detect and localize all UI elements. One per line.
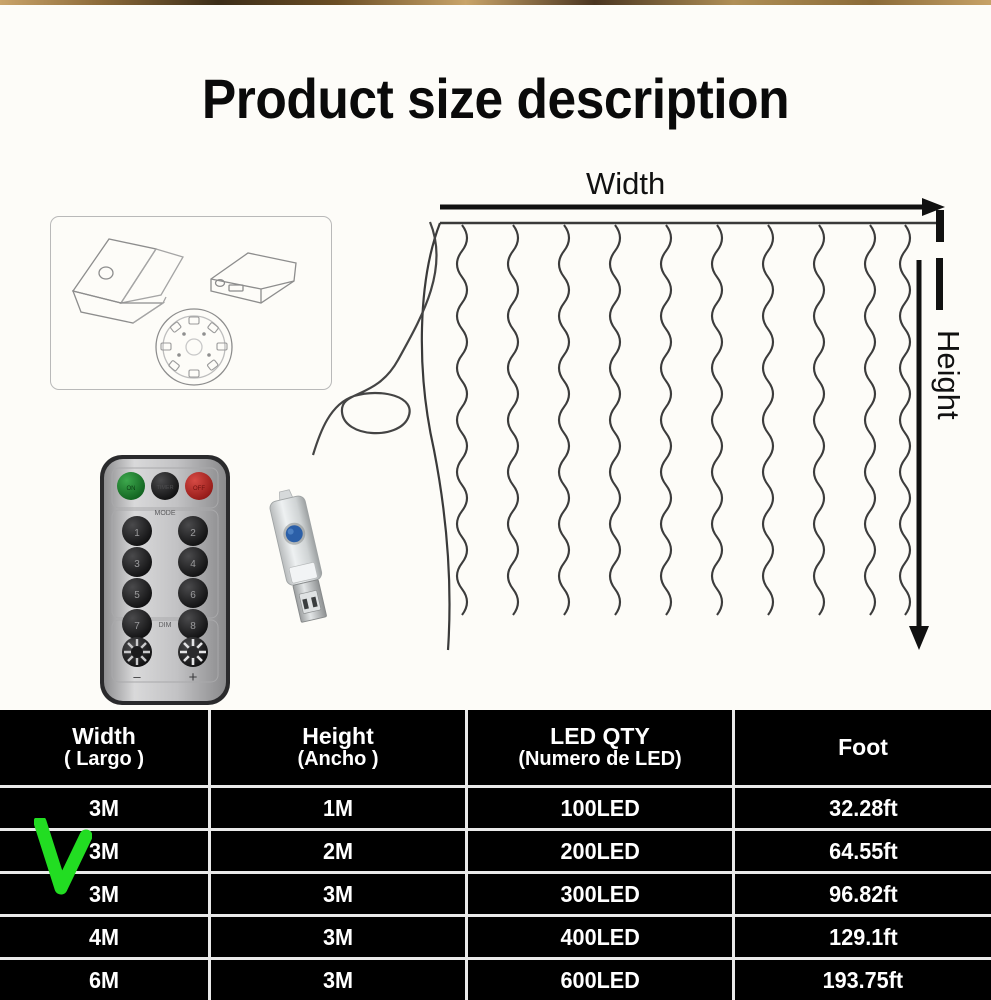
cell-foot: 64.55ft <box>735 831 991 874</box>
cell-value: 3M <box>323 881 353 908</box>
led-strands <box>457 225 910 615</box>
cell-led-qty: 400LED <box>468 917 735 960</box>
power-strip-icon <box>156 309 232 385</box>
header-main: LED QTY <box>550 724 650 748</box>
cell-height: 3M <box>211 874 468 917</box>
cell-value: 100LED <box>560 795 639 822</box>
svg-text:5: 5 <box>134 590 140 601</box>
cell-foot: 96.82ft <box>735 874 991 917</box>
led-strand <box>763 225 773 615</box>
cell-value: 6M <box>89 967 119 994</box>
cell-value: 1M <box>323 795 353 822</box>
cell-led-qty: 100LED <box>468 788 735 831</box>
cell-value: 4M <box>89 924 119 951</box>
cell-value: 129.1ft <box>829 924 898 951</box>
cell-foot: 193.75ft <box>735 960 991 1000</box>
width-label: Width <box>586 166 665 202</box>
cell-value: 400LED <box>560 924 639 951</box>
svg-text:4: 4 <box>190 559 196 570</box>
cell-led-qty: 200LED <box>468 831 735 874</box>
table-row: 6M 3M 600LED 193.75ft <box>0 960 991 1000</box>
cell-width: 6M <box>0 960 211 1000</box>
header-sub: (Ancho ) <box>297 748 378 771</box>
table-row: 3M 1M 100LED 32.28ft <box>0 788 991 831</box>
right-top-cap <box>936 210 944 242</box>
svg-text:TIMER: TIMER <box>156 485 173 491</box>
cell-value: 300LED <box>560 881 639 908</box>
header-cell-width: Width ( Largo ) <box>0 710 211 788</box>
led-strand <box>900 225 910 615</box>
laptop-icon <box>73 239 183 323</box>
header-cell-foot: Foot <box>735 710 991 788</box>
header-main: Width <box>72 724 136 748</box>
page-title: Product size description <box>40 66 952 131</box>
remote-control[interactable]: ON TIMER OFF MODE 1 2 3 4 5 6 7 8 DIM <box>96 452 236 710</box>
led-strand <box>814 225 824 615</box>
remote-timer-button: TIMER <box>151 472 179 500</box>
svg-text:OFF: OFF <box>193 486 205 492</box>
remote-dim-label: DIM <box>159 622 172 629</box>
svg-text:6: 6 <box>190 590 196 601</box>
cell-value: 32.28ft <box>829 795 898 822</box>
top-edge-strip <box>0 0 991 5</box>
height-label: Height <box>930 330 966 420</box>
cell-width: 3M <box>0 788 211 831</box>
svg-text:1: 1 <box>134 528 140 539</box>
svg-text:7: 7 <box>134 621 140 632</box>
header-cell-height: Height (Ancho ) <box>211 710 468 788</box>
cell-value: 2M <box>323 838 353 865</box>
cell-value: 3M <box>323 924 353 951</box>
cell-height: 3M <box>211 917 468 960</box>
led-strand <box>559 225 569 615</box>
cell-height: 2M <box>211 831 468 874</box>
cell-value: 3M <box>89 881 119 908</box>
header-main: Height <box>302 724 374 748</box>
cell-value: 193.75ft <box>823 967 904 994</box>
cell-foot: 32.28ft <box>735 788 991 831</box>
svg-text:3: 3 <box>134 559 140 570</box>
cell-value: 3M <box>323 967 353 994</box>
remote-mode-label: MODE <box>155 510 176 517</box>
cell-value: 3M <box>89 838 119 865</box>
remote-power-off-button: OFF <box>185 472 213 500</box>
cell-height: 3M <box>211 960 468 1000</box>
right-mid-cap <box>936 258 943 310</box>
svg-text:ON: ON <box>127 486 136 492</box>
led-strand <box>712 225 722 615</box>
header-cell-led-qty: LED QTY (Numero de LED) <box>468 710 735 788</box>
svg-text:+: + <box>189 669 198 686</box>
led-strand <box>865 225 875 615</box>
cell-value: 200LED <box>560 838 639 865</box>
svg-text:8: 8 <box>190 621 196 632</box>
curtain-lights-diagram <box>400 150 991 690</box>
table-header-row: Width ( Largo ) Height (Ancho ) LED QTY … <box>0 710 991 788</box>
svg-text:2: 2 <box>190 528 196 539</box>
usb-cable <box>280 200 470 530</box>
remote-power-on-button: ON <box>117 472 145 500</box>
cell-value: 3M <box>89 795 119 822</box>
table-row: 3M 3M 300LED 96.82ft <box>0 874 991 917</box>
table-row: 4M 3M 400LED 129.1ft <box>0 917 991 960</box>
header-sub: (Numero de LED) <box>518 748 681 771</box>
led-strand <box>610 225 620 615</box>
cell-width: 3M <box>0 874 211 917</box>
cell-foot: 129.1ft <box>735 917 991 960</box>
product-infographic: Product size description <box>0 0 991 1000</box>
led-strand <box>508 225 518 615</box>
cell-led-qty: 300LED <box>468 874 735 917</box>
spec-table: Width ( Largo ) Height (Ancho ) LED QTY … <box>0 710 991 1000</box>
led-strand <box>661 225 671 615</box>
cell-width: 4M <box>0 917 211 960</box>
cell-led-qty: 600LED <box>468 960 735 1000</box>
cell-width: 3M <box>0 831 211 874</box>
cell-value: 600LED <box>560 967 639 994</box>
height-arrow <box>909 260 929 650</box>
header-main: Foot <box>838 735 888 759</box>
svg-text:–: – <box>133 669 141 684</box>
cell-value: 96.82ft <box>829 881 898 908</box>
table-row: 3M 2M 200LED 64.55ft <box>0 831 991 874</box>
header-sub: ( Largo ) <box>64 748 144 771</box>
cell-value: 64.55ft <box>829 838 898 865</box>
cell-height: 1M <box>211 788 468 831</box>
